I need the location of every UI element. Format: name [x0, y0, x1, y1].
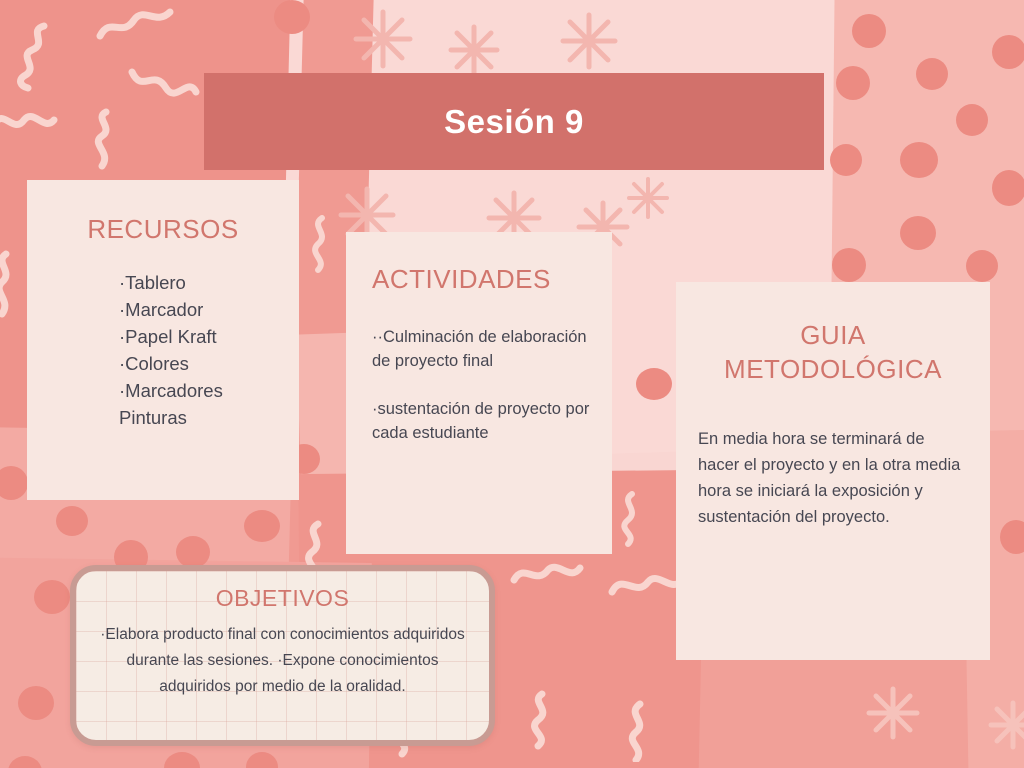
polka-dot [956, 104, 988, 136]
card-recursos-list: ·Tablero ·Marcador ·Papel Kraft ·Colores… [47, 269, 279, 431]
list-item: ·Papel Kraft [119, 323, 279, 350]
card-objetivos-body: ·Elabora producto final con conocimiento… [90, 622, 475, 700]
list-item: ·Tablero [119, 269, 279, 296]
polka-dot [274, 0, 310, 34]
polka-dot [56, 506, 88, 536]
list-item: ·Colores [119, 350, 279, 377]
list-item: ·Marcadores [119, 377, 279, 404]
polka-dot [832, 248, 866, 282]
slide-title-banner: Sesión 9 [204, 73, 824, 170]
polka-dot [1000, 520, 1024, 554]
list-item: ··Culminación de elaboración de proyecto… [372, 325, 590, 373]
card-objetivos-heading: OBJETIVOS [90, 585, 475, 612]
card-recursos-heading: RECURSOS [47, 214, 279, 245]
polka-dot [852, 14, 886, 48]
card-actividades-heading: ACTIVIDADES [372, 264, 590, 295]
card-guia-metodologica: GUIA METODOLÓGICA En media hora se termi… [676, 282, 990, 660]
card-objetivos: OBJETIVOS ·Elabora producto final con co… [70, 565, 495, 746]
polka-dot [966, 250, 998, 282]
list-item: Pinturas [119, 404, 279, 431]
card-actividades-body: ··Culminación de elaboración de proyecto… [372, 325, 590, 445]
page-title: Sesión 9 [444, 103, 584, 141]
card-guia-body: En media hora se terminará de hacer el p… [698, 426, 968, 530]
list-item: ·Marcador [119, 296, 279, 323]
polka-dot [176, 536, 210, 568]
paragraph-spacer [372, 373, 590, 397]
card-recursos: RECURSOS ·Tablero ·Marcador ·Papel Kraft… [27, 180, 299, 500]
polka-dot [34, 580, 70, 614]
polka-dot [900, 216, 936, 250]
card-actividades: ACTIVIDADES ··Culminación de elaboración… [346, 232, 612, 554]
polka-dot [992, 35, 1024, 69]
slide-canvas: Sesión 9 RECURSOS ·Tablero ·Marcador ·Pa… [0, 0, 1024, 768]
polka-dot [830, 144, 862, 176]
polka-dot [636, 368, 672, 400]
card-guia-heading: GUIA METODOLÓGICA [698, 318, 968, 386]
polka-dot [992, 170, 1024, 206]
polka-dot [836, 66, 870, 100]
polka-dot [244, 510, 280, 542]
polka-dot [916, 58, 948, 90]
polka-dot [900, 142, 938, 178]
list-item: ·sustentación de proyecto por cada estud… [372, 397, 590, 445]
polka-dot [18, 686, 54, 720]
